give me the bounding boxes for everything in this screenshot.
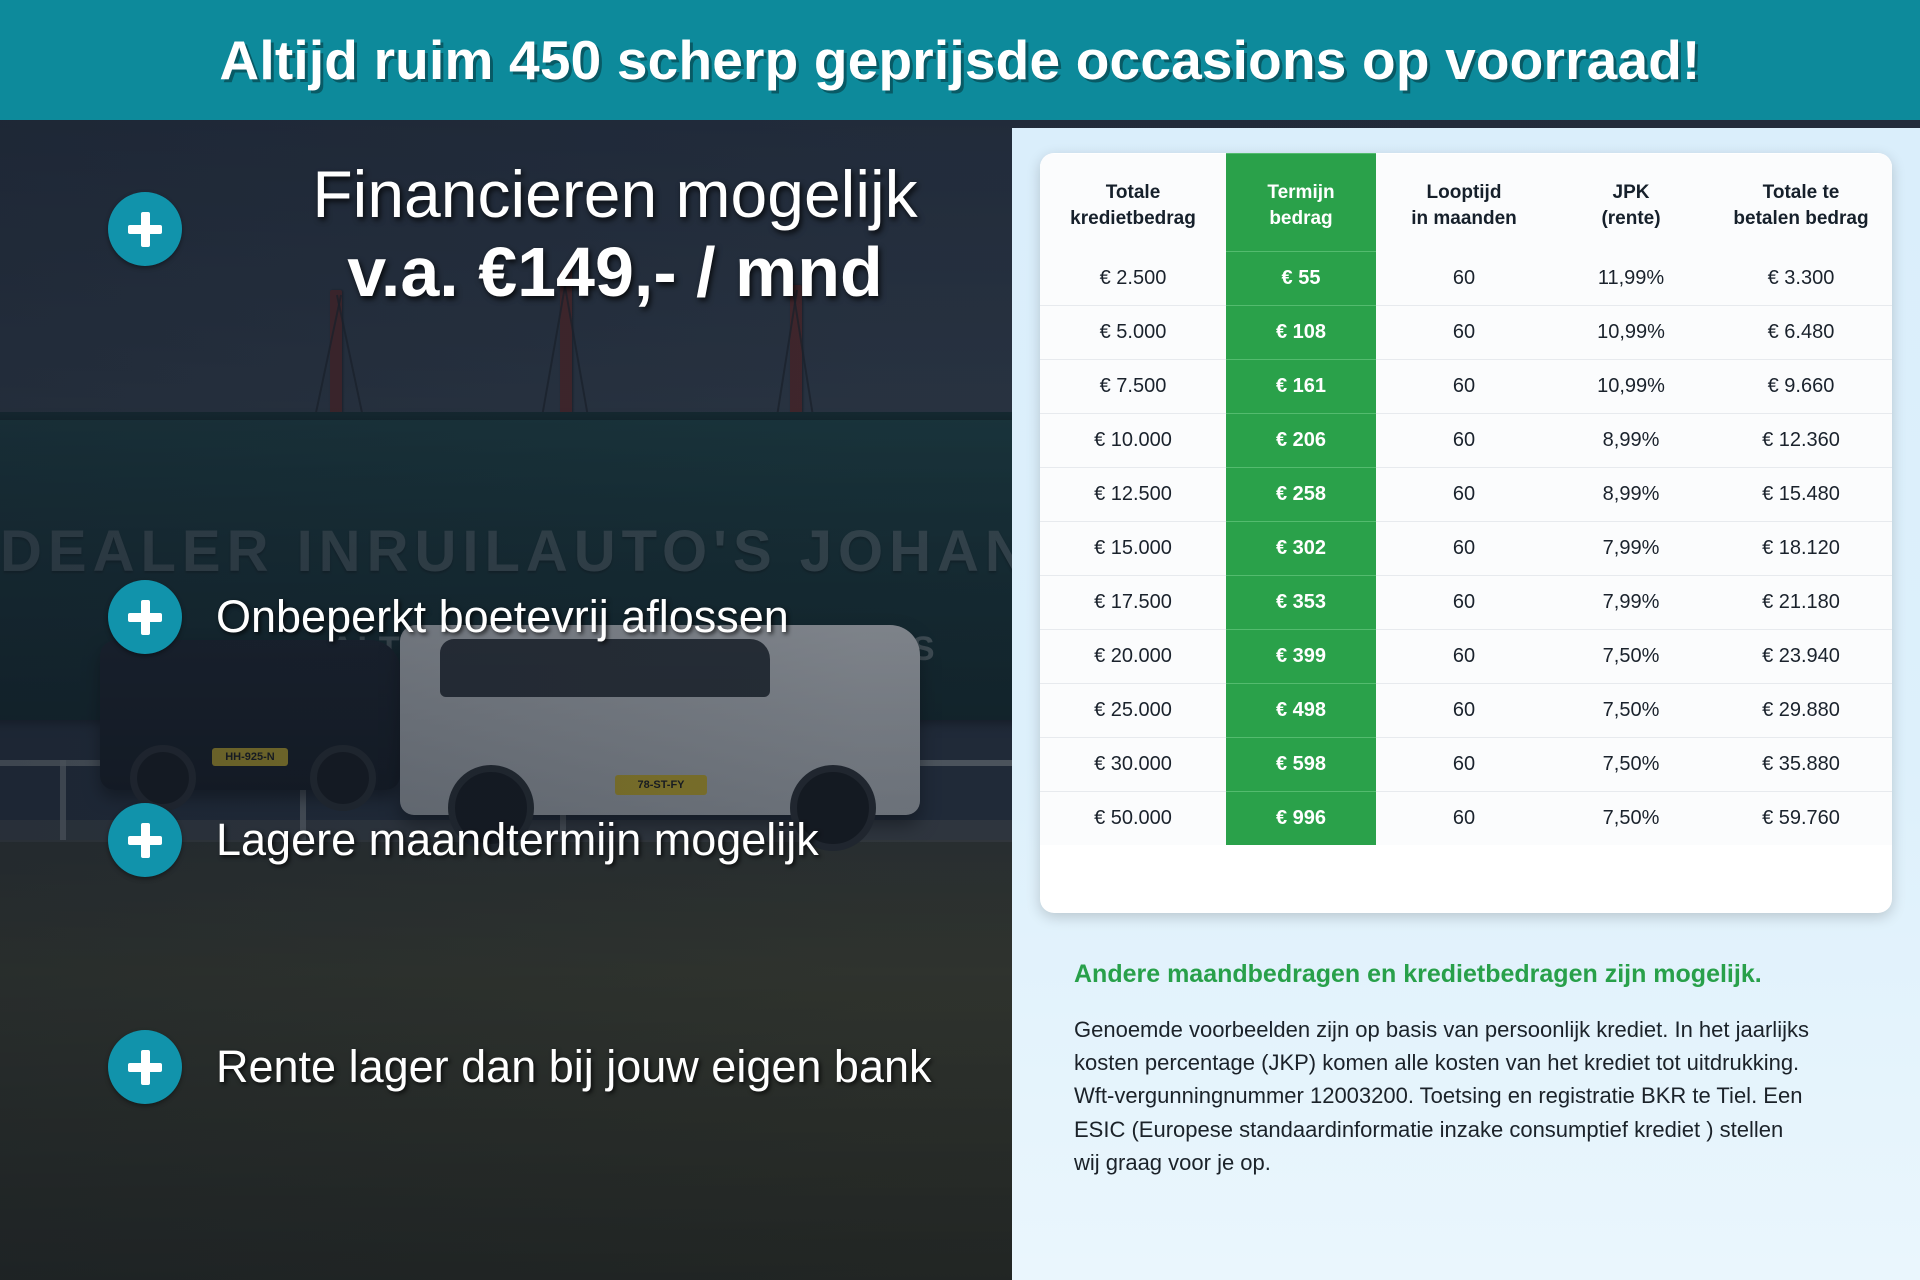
hero-line-1: Financieren mogelijk xyxy=(215,160,1015,229)
plus-icon xyxy=(108,803,182,877)
table-cell-4: € 12.360 xyxy=(1710,414,1892,468)
table-cell-3: 8,99% xyxy=(1552,414,1710,468)
table-row: € 30.000€ 598607,50%€ 35.880 xyxy=(1040,738,1892,792)
feature-label: Onbeperkt boetevrij aflossen xyxy=(216,591,789,643)
table-cell-1: € 353 xyxy=(1226,576,1376,630)
table-cell-2: 60 xyxy=(1376,522,1552,576)
table-row: € 25.000€ 498607,50%€ 29.880 xyxy=(1040,684,1892,738)
table-cell-0: € 12.500 xyxy=(1040,468,1226,522)
table-cell-3: 10,99% xyxy=(1552,360,1710,414)
table-row: € 20.000€ 399607,50%€ 23.940 xyxy=(1040,630,1892,684)
table-cell-4: € 6.480 xyxy=(1710,306,1892,360)
table-cell-1: € 598 xyxy=(1226,738,1376,792)
table-row: € 12.500€ 258608,99%€ 15.480 xyxy=(1040,468,1892,522)
headline-text: Altijd ruim 450 scherp geprijsde occasio… xyxy=(219,28,1700,92)
table-cell-3: 7,50% xyxy=(1552,630,1710,684)
disclaimer: Andere maandbedragen en kredietbedragen … xyxy=(1074,958,1814,1180)
table-cell-2: 60 xyxy=(1376,684,1552,738)
table-cell-0: € 30.000 xyxy=(1040,738,1226,792)
table-cell-3: 7,50% xyxy=(1552,684,1710,738)
hero-line-2: v.a. €149,- / mnd xyxy=(215,229,1015,317)
col-header-totaal: Totale te betalen bedrag xyxy=(1710,154,1892,252)
table-cell-0: € 7.500 xyxy=(1040,360,1226,414)
table-cell-2: 60 xyxy=(1376,306,1552,360)
feature-item-2: Rente lager dan bij jouw eigen bank xyxy=(108,1030,932,1104)
table-cell-2: 60 xyxy=(1376,252,1552,306)
table-cell-4: € 59.760 xyxy=(1710,792,1892,846)
hero-heading: Financieren mogelijk v.a. €149,- / mnd xyxy=(215,160,1015,317)
rates-table-body: € 2.500€ 556011,99%€ 3.300€ 5.000€ 10860… xyxy=(1040,252,1892,846)
feature-label: Rente lager dan bij jouw eigen bank xyxy=(216,1041,932,1093)
plus-icon xyxy=(108,1030,182,1104)
col-header-krediet: Totale kredietbedrag xyxy=(1040,154,1226,252)
table-cell-3: 8,99% xyxy=(1552,468,1710,522)
table-cell-1: € 55 xyxy=(1226,252,1376,306)
table-row: € 17.500€ 353607,99%€ 21.180 xyxy=(1040,576,1892,630)
table-header-row: Totale kredietbedrag Termijn bedrag Loop… xyxy=(1040,154,1892,252)
headline-banner: Altijd ruim 450 scherp geprijsde occasio… xyxy=(0,0,1920,120)
table-cell-2: 60 xyxy=(1376,360,1552,414)
col-header-looptijd: Looptijd in maanden xyxy=(1376,154,1552,252)
table-row: € 10.000€ 206608,99%€ 12.360 xyxy=(1040,414,1892,468)
table-cell-2: 60 xyxy=(1376,414,1552,468)
advertisement-banner: DEALER INRUILAUTO'S JOHAN MEURE ALTIJD 4… xyxy=(0,0,1920,1280)
table-cell-2: 60 xyxy=(1376,738,1552,792)
table-cell-3: 7,50% xyxy=(1552,792,1710,846)
col-header-jpk: JPK (rente) xyxy=(1552,154,1710,252)
table-cell-4: € 18.120 xyxy=(1710,522,1892,576)
rates-table: Totale kredietbedrag Termijn bedrag Loop… xyxy=(1040,153,1892,845)
table-cell-1: € 161 xyxy=(1226,360,1376,414)
table-cell-3: 11,99% xyxy=(1552,252,1710,306)
table-cell-2: 60 xyxy=(1376,576,1552,630)
table-cell-0: € 10.000 xyxy=(1040,414,1226,468)
feature-item-0: Onbeperkt boetevrij aflossen xyxy=(108,580,789,654)
feature-item-1: Lagere maandtermijn mogelijk xyxy=(108,803,819,877)
table-cell-3: 7,50% xyxy=(1552,738,1710,792)
table-cell-1: € 108 xyxy=(1226,306,1376,360)
table-cell-0: € 20.000 xyxy=(1040,630,1226,684)
table-cell-2: 60 xyxy=(1376,468,1552,522)
table-row: € 7.500€ 1616010,99%€ 9.660 xyxy=(1040,360,1892,414)
table-cell-1: € 498 xyxy=(1226,684,1376,738)
table-cell-4: € 29.880 xyxy=(1710,684,1892,738)
table-cell-3: 10,99% xyxy=(1552,306,1710,360)
table-cell-1: € 302 xyxy=(1226,522,1376,576)
table-cell-3: 7,99% xyxy=(1552,576,1710,630)
table-cell-4: € 9.660 xyxy=(1710,360,1892,414)
table-cell-0: € 25.000 xyxy=(1040,684,1226,738)
table-cell-0: € 15.000 xyxy=(1040,522,1226,576)
plus-icon xyxy=(108,192,182,266)
feature-label: Lagere maandtermijn mogelijk xyxy=(216,814,819,866)
table-row: € 5.000€ 1086010,99%€ 6.480 xyxy=(1040,306,1892,360)
table-cell-2: 60 xyxy=(1376,630,1552,684)
plus-icon xyxy=(108,580,182,654)
table-row: € 50.000€ 996607,50%€ 59.760 xyxy=(1040,792,1892,846)
table-cell-0: € 50.000 xyxy=(1040,792,1226,846)
feature-list: Financieren mogelijk v.a. €149,- / mnd O… xyxy=(0,120,1040,1280)
table-cell-0: € 2.500 xyxy=(1040,252,1226,306)
disclaimer-title: Andere maandbedragen en kredietbedragen … xyxy=(1074,958,1814,991)
table-cell-2: 60 xyxy=(1376,792,1552,846)
table-cell-1: € 996 xyxy=(1226,792,1376,846)
disclaimer-body: Genoemde voorbeelden zijn op basis van p… xyxy=(1074,1013,1814,1180)
col-header-termijn: Termijn bedrag xyxy=(1226,154,1376,252)
table-cell-4: € 3.300 xyxy=(1710,252,1892,306)
table-cell-4: € 15.480 xyxy=(1710,468,1892,522)
table-cell-4: € 21.180 xyxy=(1710,576,1892,630)
rates-table-head: Totale kredietbedrag Termijn bedrag Loop… xyxy=(1040,154,1892,252)
rates-table-card: Totale kredietbedrag Termijn bedrag Loop… xyxy=(1040,153,1892,913)
table-cell-4: € 23.940 xyxy=(1710,630,1892,684)
feature-hero xyxy=(108,192,182,266)
table-row: € 15.000€ 302607,99%€ 18.120 xyxy=(1040,522,1892,576)
finance-panel: Totale kredietbedrag Termijn bedrag Loop… xyxy=(1012,128,1920,1280)
table-cell-1: € 206 xyxy=(1226,414,1376,468)
table-cell-0: € 17.500 xyxy=(1040,576,1226,630)
table-cell-4: € 35.880 xyxy=(1710,738,1892,792)
table-row: € 2.500€ 556011,99%€ 3.300 xyxy=(1040,252,1892,306)
table-cell-1: € 399 xyxy=(1226,630,1376,684)
table-cell-0: € 5.000 xyxy=(1040,306,1226,360)
table-cell-3: 7,99% xyxy=(1552,522,1710,576)
table-cell-1: € 258 xyxy=(1226,468,1376,522)
